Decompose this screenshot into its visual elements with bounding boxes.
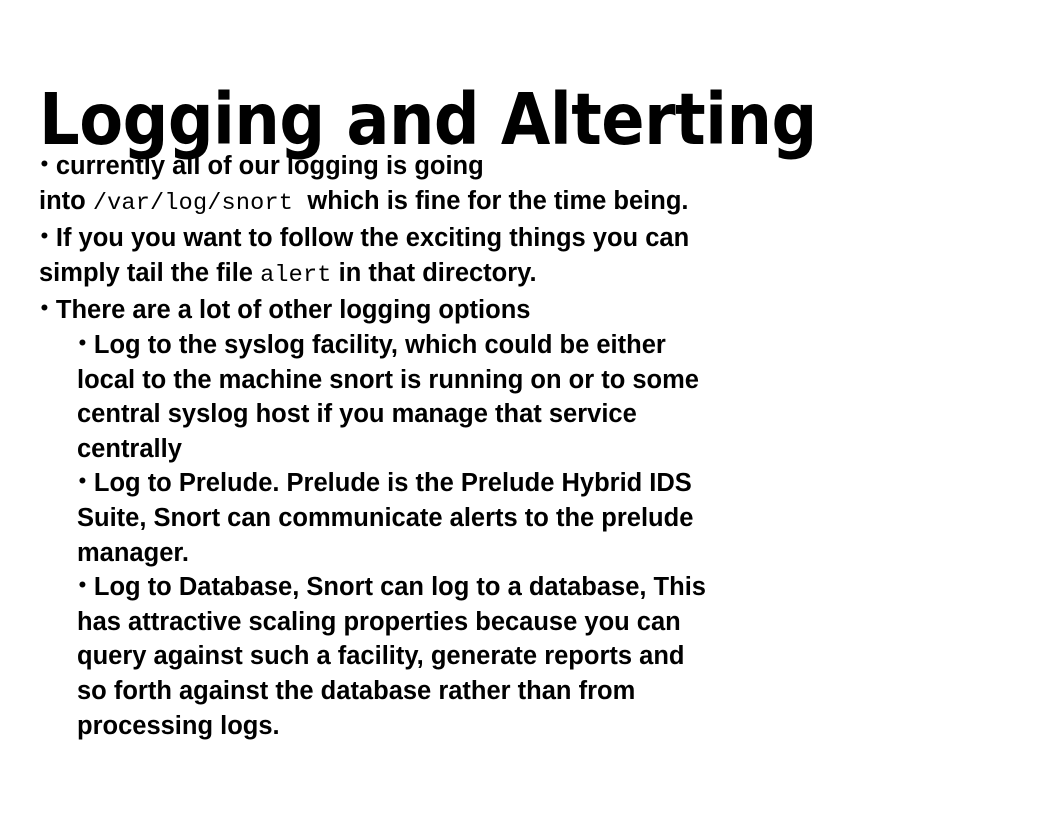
- bullet-tail-alert: •If you you want to follow the exciting …: [39, 221, 779, 293]
- bullet-log-syslog: •Log to the syslog facility, which could…: [39, 328, 779, 466]
- slide-canvas: Logging and Alterting •currently all of …: [0, 0, 1055, 817]
- bullet-log-database: •Log to Database, Snort can log to a dat…: [39, 570, 779, 743]
- bullet-logging-location: •currently all of our logging is goingin…: [39, 149, 779, 221]
- inline-code: alert: [260, 262, 332, 289]
- inline-code: /var/log/snort: [93, 190, 308, 217]
- slide-body: •currently all of our logging is goingin…: [39, 149, 779, 743]
- bullet-text: Log to Database, Snort can log to a data…: [77, 573, 706, 739]
- bullet-text: There are a lot of other logging options: [56, 296, 531, 324]
- bullet-text: Log to Prelude. Prelude is the Prelude H…: [77, 469, 693, 566]
- page-title: Logging and Alterting: [39, 84, 999, 156]
- bullet-text: If you you want to follow the exciting t…: [39, 224, 689, 287]
- bullet-text: currently all of our logging is goingint…: [39, 152, 689, 215]
- bullet-text: Log to the syslog facility, which could …: [77, 331, 699, 463]
- bullet-other-options: •There are a lot of other logging option…: [39, 293, 779, 328]
- bullet-log-prelude: •Log to Prelude. Prelude is the Prelude …: [39, 466, 779, 570]
